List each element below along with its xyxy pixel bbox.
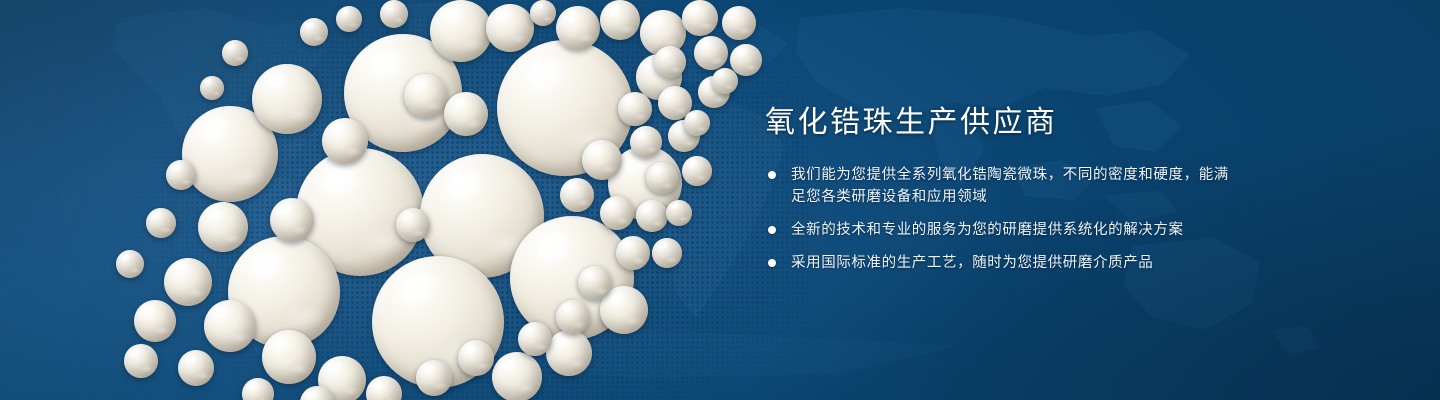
feature-bullet-3-text: 采用国际标准的生产工艺，随时为您提供研磨介质产品 bbox=[791, 252, 1235, 274]
banner-headline: 氧化锆珠生产供应商 bbox=[765, 104, 1235, 142]
hero-banner: 氧化锆珠生产供应商 我们能为您提供全系列氧化锆陶瓷微珠，不同的密度和硬度，能满足… bbox=[0, 0, 1440, 400]
bullet-dot-icon bbox=[768, 226, 776, 234]
banner-copy: 氧化锆珠生产供应商 我们能为您提供全系列氧化锆陶瓷微珠，不同的密度和硬度，能满足… bbox=[765, 104, 1235, 274]
feature-bullet-3: 采用国际标准的生产工艺，随时为您提供研磨介质产品 bbox=[765, 252, 1235, 274]
zirconia-beads-image bbox=[0, 0, 780, 400]
feature-bullet-1-text: 我们能为您提供全系列氧化锆陶瓷微珠，不同的密度和硬度，能满足您各类研磨设备和应用… bbox=[791, 164, 1235, 208]
bullet-dot-icon bbox=[768, 259, 776, 267]
feature-bullet-2-text: 全新的技术和专业的服务为您的研磨提供系统化的解决方案 bbox=[791, 219, 1235, 241]
feature-bullet-1: 我们能为您提供全系列氧化锆陶瓷微珠，不同的密度和硬度，能满足您各类研磨设备和应用… bbox=[765, 164, 1235, 208]
bullet-dot-icon bbox=[768, 171, 776, 179]
feature-bullet-list: 我们能为您提供全系列氧化锆陶瓷微珠，不同的密度和硬度，能满足您各类研磨设备和应用… bbox=[765, 164, 1235, 274]
halftone-dot-texture bbox=[90, 0, 810, 400]
feature-bullet-2: 全新的技术和专业的服务为您的研磨提供系统化的解决方案 bbox=[765, 219, 1235, 241]
